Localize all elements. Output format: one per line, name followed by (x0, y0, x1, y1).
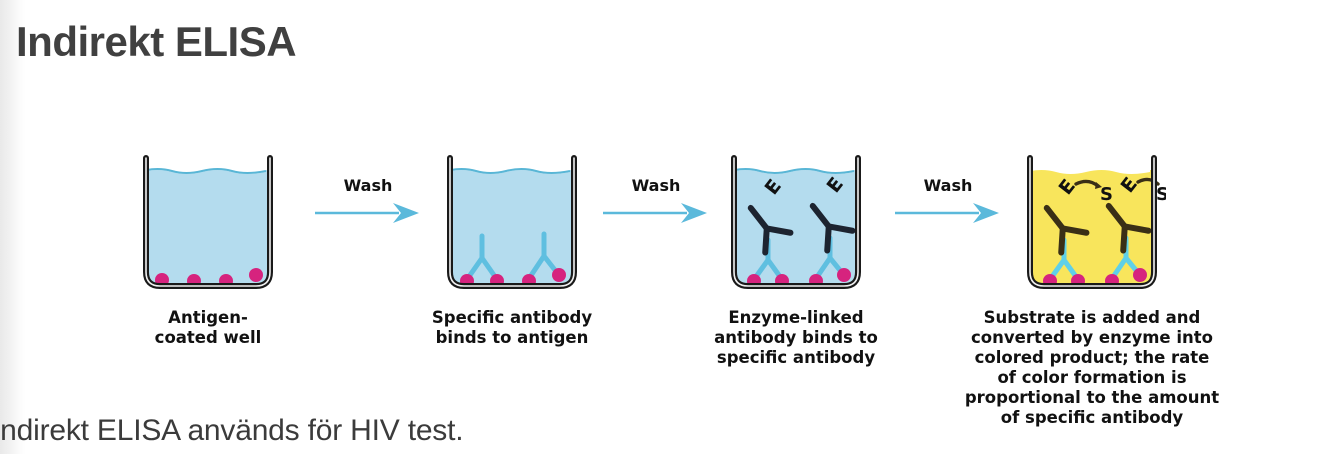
diagram-step-enzyme-linked-antibody: E E Enzyme-linked antibody bind (693, 128, 899, 454)
well-1 (134, 144, 282, 296)
substrate-label: S (1100, 184, 1113, 205)
step-label-1: Antigen- coated well (83, 308, 333, 348)
slide-caption: Indirekt ELISA används för HIV test. (0, 414, 463, 448)
diagram-step-substrate-added: E S E S (989, 128, 1195, 454)
wash-label-3: Wash (893, 176, 1003, 195)
page-title: Indirekt ELISA (16, 18, 296, 66)
antigen-dot (837, 268, 851, 282)
diagram-step-antigen-coated-well: Antigen- coated well (105, 128, 311, 454)
wash-arrow-1-icon (313, 200, 423, 231)
elisa-diagram: Antigen- coated well Wash (105, 128, 1253, 454)
slide-left-edge-shading (0, 0, 26, 454)
substrate-label: S (1156, 184, 1166, 205)
wash-arrow-3-icon (893, 200, 1003, 231)
wash-step-1: Wash (313, 176, 423, 228)
antigen-dot (552, 268, 566, 282)
wash-step-3: Wash (893, 176, 1003, 228)
antigen-dot (1133, 268, 1147, 282)
well-4: E S E S (1018, 144, 1166, 296)
well-2 (438, 144, 586, 296)
antigen-dot (249, 268, 263, 282)
step-label-3: Enzyme-linked antibody binds to specific… (671, 308, 921, 368)
diagram-step-specific-antibody-binds: Specific antibody binds to antigen (409, 128, 615, 454)
wash-label-1: Wash (313, 176, 423, 195)
step-label-4: Substrate is added and converted by enzy… (947, 308, 1237, 428)
well-3: E E (722, 144, 870, 296)
step-label-2: Specific antibody binds to antigen (387, 308, 637, 348)
